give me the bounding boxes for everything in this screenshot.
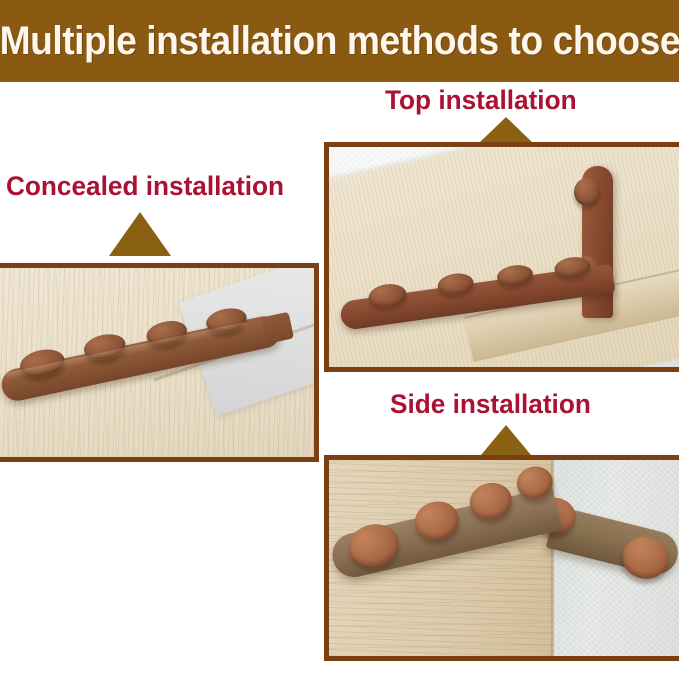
rack-end-tab	[261, 312, 294, 344]
side-installation-photo	[324, 455, 679, 661]
triangle-up-icon-side	[481, 425, 531, 455]
photo-content-side	[329, 460, 679, 656]
section-label-concealed: Concealed installation	[6, 171, 284, 201]
concealed-installation-photo	[0, 263, 319, 462]
header-banner: Multiple installation methods to choose	[0, 0, 679, 82]
hook-knob	[574, 178, 600, 206]
section-label-top: Top installation	[385, 85, 577, 115]
triangle-up-icon-concealed	[109, 212, 171, 256]
photo-content-concealed	[0, 268, 314, 457]
top-installation-photo	[324, 142, 679, 372]
photo-content-top	[329, 147, 679, 367]
section-label-side: Side installation	[390, 389, 591, 419]
triangle-up-icon-top	[478, 117, 534, 144]
page-title: Multiple installation methods to choose	[0, 19, 679, 63]
infographic-canvas: Multiple installation methods to choose …	[0, 0, 679, 679]
